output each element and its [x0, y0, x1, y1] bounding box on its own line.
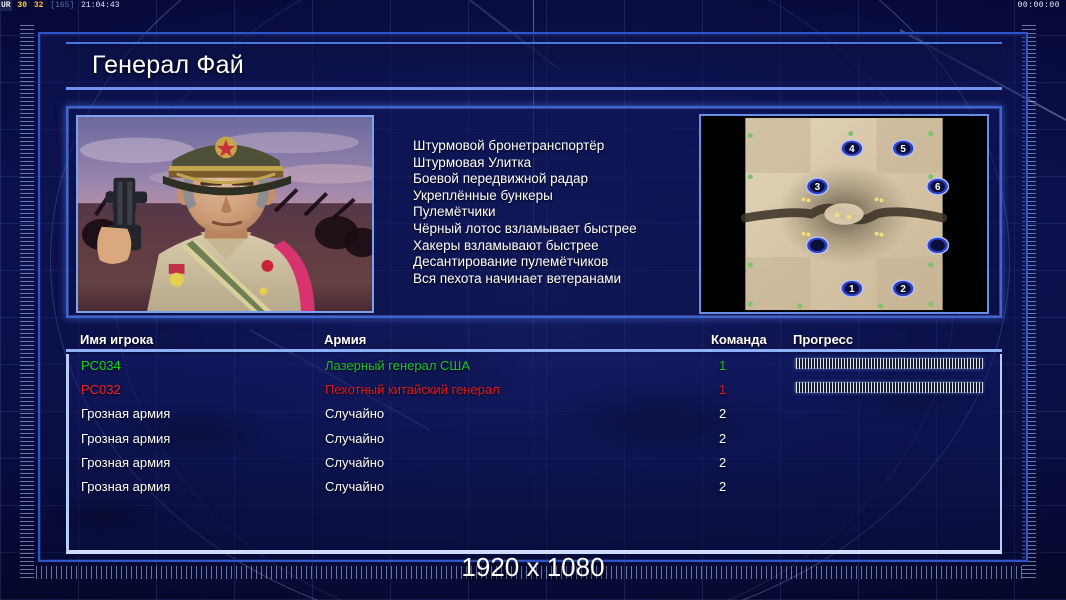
cell-team: 2 — [719, 431, 726, 446]
cell-army: Лазерный генерал США — [325, 358, 470, 373]
cell-player-name: Грозная армия — [81, 406, 170, 421]
cell-player-name: Грозная армия — [81, 479, 170, 494]
map-start-position-label: 6 — [935, 182, 941, 193]
game-screen: UR 30 32 [165] 21:04:43 00:00:00 Генерал… — [0, 0, 1066, 600]
cell-progress — [795, 358, 983, 369]
ability-item: Укреплённые бункеры — [413, 188, 703, 205]
status-time: 21:04:43 — [80, 0, 120, 11]
column-header-team: Команда — [711, 332, 767, 347]
column-header-progress: Прогресс — [793, 332, 853, 347]
cell-army: Случайно — [325, 431, 384, 446]
ability-item: Вся пехота начинает ветеранами — [413, 271, 703, 288]
table-row[interactable]: Грозная армияСлучайно2 — [69, 475, 1000, 499]
map-start-position[interactable]: 5 — [892, 140, 914, 157]
map-start-position-label: 5 — [900, 144, 906, 155]
cell-player-name: Грозная армия — [81, 455, 170, 470]
map-start-position-label: 2 — [900, 284, 906, 295]
general-portrait — [76, 115, 374, 313]
column-header-army: Армия — [324, 332, 366, 347]
player-table-body: PC034Лазерный генерал США1PC032Пехотный … — [66, 354, 1002, 554]
table-row[interactable]: Грозная армияСлучайно2 — [69, 451, 1000, 475]
status-label: UR — [0, 0, 12, 11]
cell-army: Случайно — [325, 406, 384, 421]
match-clock: 00:00:00 — [1018, 0, 1060, 11]
column-header-player-name: Имя игрока — [80, 332, 153, 347]
map-start-position-label: 3 — [815, 182, 821, 193]
progress-bar — [795, 358, 983, 369]
ruler-left — [20, 22, 34, 578]
ability-item: Чёрный лотос взламывает быстрее — [413, 221, 703, 238]
debug-status-bar: UR 30 32 [165] 21:04:43 00:00:00 — [0, 0, 1066, 11]
cell-army: Пехотный китайский генерал — [325, 382, 500, 397]
ability-item: Штурмовая Улитка — [413, 155, 703, 172]
status-value-2: 32 — [33, 0, 45, 11]
cell-team: 2 — [719, 479, 726, 494]
resolution-caption: 1920 x 1080 — [0, 552, 1066, 583]
map-start-position[interactable]: 2 — [892, 280, 914, 297]
table-row[interactable]: PC032Пехотный китайский генерал1 — [69, 378, 1000, 402]
cell-team: 2 — [719, 455, 726, 470]
cell-player-name: Грозная армия — [81, 431, 170, 446]
cell-team: 1 — [719, 382, 726, 397]
map-start-position-label: 1 — [849, 284, 855, 295]
ability-item: Боевой передвижной радар — [413, 171, 703, 188]
cell-team: 1 — [719, 358, 726, 373]
map-start-position[interactable] — [927, 237, 949, 254]
window-titlebar: Генерал Фай — [66, 42, 1002, 90]
map-start-position[interactable]: 4 — [841, 140, 863, 157]
map-start-position[interactable]: 1 — [841, 280, 863, 297]
map-preview[interactable]: 453612 — [699, 114, 989, 314]
cell-player-name: PC034 — [81, 358, 121, 373]
general-abilities-list: Штурмовой бронетранспортёр Штурмовая Ули… — [413, 138, 703, 287]
cell-army: Случайно — [325, 479, 384, 494]
map-start-position[interactable] — [807, 237, 829, 254]
player-table-header: Имя игрока Армия Команда Прогресс — [66, 330, 1002, 352]
ability-item: Хакеры взламывают быстрее — [413, 238, 703, 255]
table-row[interactable]: Грозная армияСлучайно2 — [69, 402, 1000, 426]
ability-item: Пулемётчики — [413, 204, 703, 221]
general-info-window: Генерал Фай — [38, 32, 1028, 562]
page-title: Генерал Фай — [92, 51, 244, 80]
ability-item: Десантирование пулемётчиков — [413, 254, 703, 271]
progress-bar — [795, 382, 983, 393]
map-start-position[interactable]: 6 — [927, 178, 949, 195]
table-row[interactable]: PC034Лазерный генерал США1 — [69, 354, 1000, 378]
status-bracket: [165] — [49, 0, 75, 11]
ability-item: Штурмовой бронетранспортёр — [413, 138, 703, 155]
cell-progress — [795, 382, 983, 393]
map-start-position-label: 4 — [849, 144, 855, 155]
table-row[interactable]: Грозная армияСлучайно2 — [69, 427, 1000, 451]
cell-team: 2 — [719, 406, 726, 421]
map-start-position[interactable]: 3 — [807, 178, 829, 195]
status-value-1: 30 — [16, 0, 28, 11]
cell-army: Случайно — [325, 455, 384, 470]
general-info-panel: Штурмовой бронетранспортёр Штурмовая Ули… — [66, 106, 1002, 318]
cell-player-name: PC032 — [81, 382, 121, 397]
